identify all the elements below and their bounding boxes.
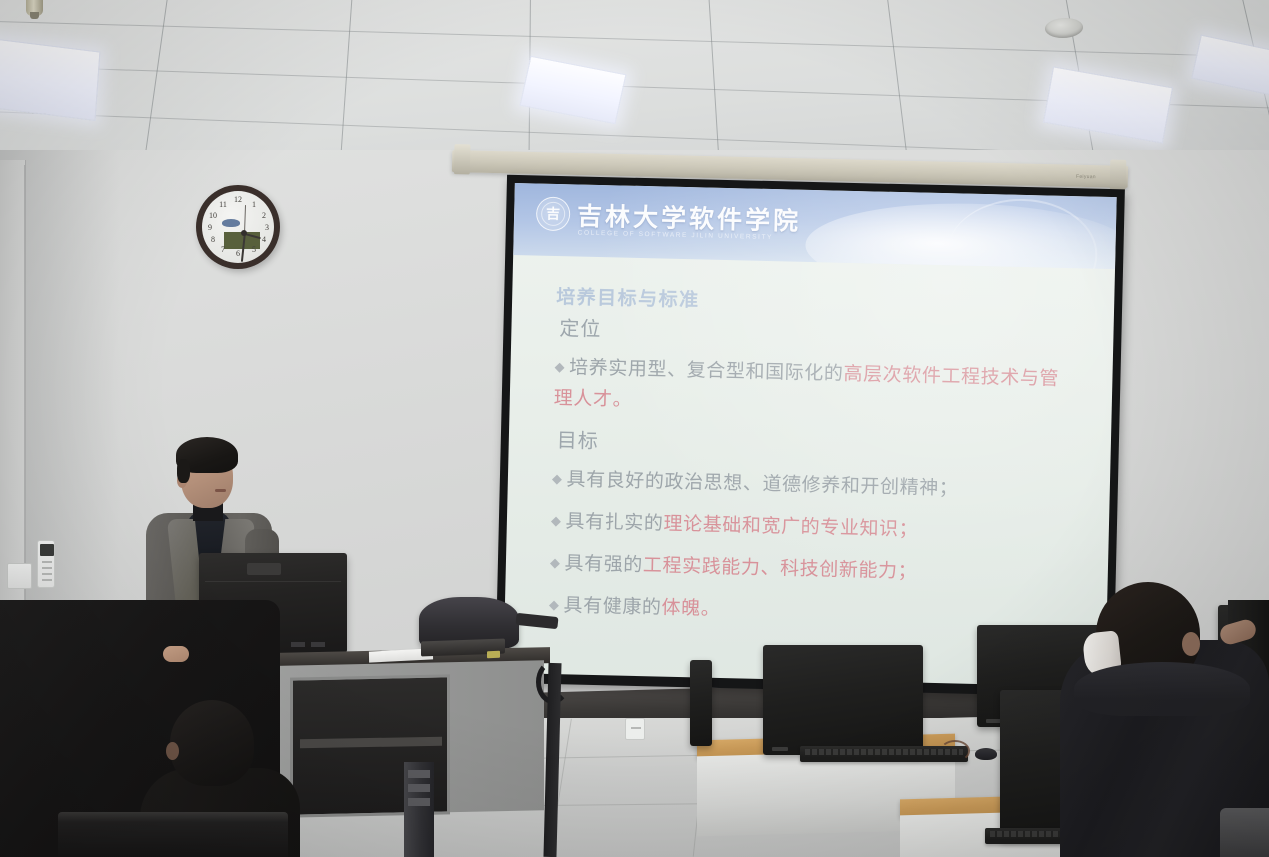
clock-numeral-10: 10 [207, 210, 219, 221]
lecturer-hand [163, 646, 189, 662]
bullet-text-highlight: 理论基础和宽广的专业知识； [663, 513, 918, 541]
bullet-text-plain: 具有良好的政治思想、道德修养和开创精神； [566, 468, 958, 499]
slide-bullet-2: ◆具有良好的政治思想、道德修养和开创精神； [552, 464, 1077, 507]
lecturer-hair [176, 437, 238, 473]
wall-clock: 12 1 2 3 4 5 6 7 8 9 10 11 [196, 185, 280, 269]
student-hand [1218, 617, 1258, 646]
clock-numeral-2: 2 [258, 210, 270, 221]
bullet-marker-icon: ◆ [554, 360, 565, 375]
slide-surface: 吉 吉林大学软件学院 COLLEGE OF SOFTWARE JILIN UNI… [503, 183, 1116, 687]
roller-bracket-left [454, 144, 471, 174]
foreground-monitor[interactable] [58, 812, 288, 857]
lecturer-mouth [215, 489, 226, 492]
bullet-text-plain: 具有强的 [564, 552, 643, 576]
slide-header-band: 吉 吉林大学软件学院 COLLEGE OF SOFTWARE JILIN UNI… [513, 183, 1117, 269]
bullet-text-highlight: 工程实践能力、科技创新能力； [643, 554, 918, 582]
pc-tower[interactable] [404, 762, 434, 857]
sprinkler-head-icon [26, 0, 43, 16]
student-mouse-1[interactable] [975, 748, 997, 760]
student-head [170, 700, 254, 786]
wall-outlet[interactable] [625, 718, 645, 740]
university-logo-glyph: 吉 [546, 203, 560, 223]
bullet-marker-icon: ◆ [550, 556, 561, 571]
ac-remote-screen [40, 544, 54, 556]
student-ear [1182, 632, 1200, 656]
clock-numeral-3: 3 [261, 222, 273, 233]
foreground-chair[interactable] [1220, 808, 1269, 857]
bullet-text-plain: 具有健康的 [563, 594, 662, 618]
light-switch[interactable] [7, 563, 32, 589]
clock-numeral-11: 11 [217, 199, 229, 210]
slide-body: 定位 ◆培养实用型、复合型和国际化的高层次软件工程技术与管理人才。 目标 ◆具有… [505, 311, 1114, 634]
university-logo: 吉 [536, 196, 571, 231]
mouse-cable [940, 740, 970, 762]
bullet-marker-icon: ◆ [552, 472, 563, 487]
projector-screen: 吉 吉林大学软件学院 COLLEGE OF SOFTWARE JILIN UNI… [495, 175, 1125, 697]
slide-bullet-4: ◆具有强的工程实践能力、科技创新能力； [550, 548, 1075, 591]
student-monitor-1[interactable] [763, 645, 923, 755]
slide-bullet-1: ◆培养实用型、复合型和国际化的高层次软件工程技术与管理人才。 [553, 352, 1078, 426]
student-ear [166, 742, 179, 760]
clock-numeral-9: 9 [204, 222, 216, 233]
slide-title: 培养目标与标准 [556, 282, 700, 312]
ac-remote-holder[interactable] [37, 540, 55, 588]
clock-numeral-12: 12 [232, 194, 244, 205]
desk-sticker [487, 651, 500, 658]
clock-numeral-7: 7 [217, 244, 229, 255]
monitor-vesa-mount [247, 563, 281, 575]
bullet-text-plain: 具有扎实的 [565, 510, 664, 534]
bullet-marker-icon: ◆ [549, 598, 560, 613]
roller-bracket-right [1110, 160, 1127, 190]
classroom-photo: 12 1 2 3 4 5 6 7 8 9 10 11 Feiyuan [0, 0, 1269, 857]
roller-brand-label: Feiyuan [1076, 174, 1096, 180]
slide-section-heading-2: 目标 [557, 424, 1112, 466]
clock-numeral-5: 5 [248, 244, 260, 255]
slide-section-heading-1: 定位 [559, 312, 1114, 354]
student-monitor-6[interactable] [690, 660, 712, 746]
clock-face: 12 1 2 3 4 5 6 7 8 9 10 11 [202, 191, 274, 263]
clock-numeral-8: 8 [207, 234, 219, 245]
clock-brand-mark [222, 219, 240, 227]
clock-numeral-1: 1 [248, 199, 260, 210]
clock-center-pin [241, 230, 247, 236]
bullet-text-highlight: 体魄。 [661, 597, 720, 620]
bullet-text-plain: 培养实用型、复合型和国际化的 [569, 356, 844, 384]
slide-bullet-3: ◆具有扎实的理论基础和宽广的专业知识； [551, 506, 1076, 549]
hoodie-collar [1074, 662, 1250, 716]
bullet-marker-icon: ◆ [551, 514, 562, 529]
